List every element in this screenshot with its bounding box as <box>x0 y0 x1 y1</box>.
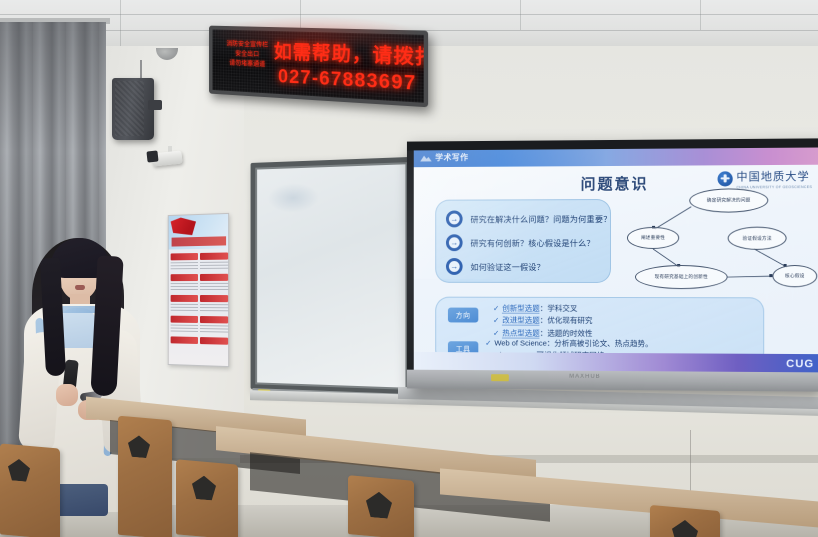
chair-cutout <box>366 491 392 519</box>
diagram-node: 验证假设方法 <box>728 227 787 250</box>
presentation-slide: 学术写作 中国地质大学 CHINA UNIVERSITY OF GEOSCIEN… <box>414 147 818 372</box>
slide-header-brand: 学术写作 <box>435 152 468 163</box>
diagram-node: 现有研究基础上的创新性 <box>635 265 728 289</box>
hand-left <box>56 384 78 406</box>
display-brand: MAXHUB <box>569 374 601 380</box>
detail-sep: ： <box>540 316 548 325</box>
detail-sep: ： <box>540 304 548 313</box>
detail-sep: ： <box>547 339 555 348</box>
question-text: 如何验证这一假设？ <box>470 261 544 273</box>
whiteboard-smudge <box>267 182 319 213</box>
chair-cutout <box>8 458 30 482</box>
question-text: 研究在解决什么问题？问题为何重要？ <box>470 212 611 224</box>
detail-sep: ： <box>540 328 548 337</box>
diagram-node: 核心假设 <box>772 265 817 287</box>
detail-value: 优化现有研究 <box>547 316 592 325</box>
wooden-chair <box>118 416 172 537</box>
footer-logo: CUG <box>786 358 814 370</box>
display-screen[interactable]: 学术写作 中国地质大学 CHINA UNIVERSITY OF GEOSCIEN… <box>414 147 818 372</box>
detail-value: 分析高被引论文、热点趋势。 <box>554 339 652 348</box>
detail-item: ✓改进型选题：优化现有研究 <box>493 315 592 328</box>
check-icon: ✓ <box>485 338 491 347</box>
chair-cutout <box>128 435 150 459</box>
display-bottom-bezel: MAXHUB <box>407 370 818 392</box>
whiteboard <box>251 157 413 395</box>
detail-key: Web of Science <box>494 338 546 347</box>
wooden-chair <box>176 459 238 537</box>
arrow-bullet-icon: → <box>446 234 463 251</box>
mouth <box>75 285 85 290</box>
led-scrolling-sign: 消防安全宣传栏 安全出口 请勿堵塞通道 如需帮助，请拨打 027-6788369… <box>209 26 428 108</box>
detail-value: 学科交叉 <box>547 304 577 313</box>
concept-node-diagram: 确定研究解决的问题 阐述重要性 验证假设方法 现有研究基础上的创新性 核心假设 <box>627 186 818 295</box>
arrow-bullet-icon: → <box>446 258 463 275</box>
led-main-text: 如需帮助，请拨打 027-67883697 <box>274 37 422 96</box>
wall-poster <box>168 213 229 367</box>
check-icon: ✓ <box>493 304 499 313</box>
wooden-chair <box>348 475 414 537</box>
inner-top <box>60 308 96 348</box>
check-icon: ✓ <box>493 328 499 337</box>
detail-key: 创新型选题 <box>502 304 539 314</box>
poster-column-right <box>200 252 228 346</box>
poster-column-left <box>171 253 198 346</box>
slide-header-band <box>414 147 818 167</box>
question-box: → 研究在解决什么问题？问题为何重要？ → 研究有何创新？核心假设是什么？ → … <box>435 199 611 283</box>
diagram-node: 阐述重要性 <box>627 227 679 249</box>
question-text: 研究有何创新？核心假设是什么？ <box>470 237 594 249</box>
speaker-bracket <box>148 100 162 110</box>
led-help-line: 如需帮助，请拨打 <box>274 37 422 70</box>
wooden-chair <box>650 505 720 537</box>
classroom-scene: 消防安全宣传栏 安全出口 请勿堵塞通道 如需帮助，请拨打 027-6788369… <box>0 0 818 537</box>
jeans <box>54 484 108 516</box>
detail-tag-direction: 方向 <box>448 308 478 323</box>
interactive-smart-display[interactable]: 学术写作 中国地质大学 CHINA UNIVERSITY OF GEOSCIEN… <box>407 138 818 391</box>
chair-cutout <box>672 519 698 537</box>
detail-key: 改进型选题 <box>502 316 539 326</box>
poster-title-bar <box>172 236 226 246</box>
mountain-logo-icon <box>420 153 433 163</box>
detail-list-direction: ✓创新型选题：学科交叉 ✓改进型选题：优化现有研究 ✓热点型选题：选题的时效性 <box>493 303 592 340</box>
question-row: → 研究在解决什么问题？问题为何重要？ <box>446 210 612 227</box>
question-row: → 如何验证这一假设？ <box>446 258 545 275</box>
chair-cutout <box>192 475 216 501</box>
wooden-chair <box>0 443 60 537</box>
camera-lens-icon <box>146 150 158 162</box>
check-icon: ✓ <box>493 316 499 325</box>
detail-value: 选题的时效性 <box>547 328 592 337</box>
display-indicator-icon <box>491 374 509 381</box>
question-row: → 研究有何创新？核心假设是什么？ <box>446 234 595 251</box>
arrow-bullet-icon: → <box>446 211 463 228</box>
detail-item: ✓Web of Science：分析高被引论文、热点趋势。 <box>485 337 653 350</box>
led-side-text: 消防安全宣传栏 安全出口 请勿堵塞通道 <box>218 39 278 71</box>
detail-item: ✓创新型选题：学科交叉 <box>493 303 592 316</box>
